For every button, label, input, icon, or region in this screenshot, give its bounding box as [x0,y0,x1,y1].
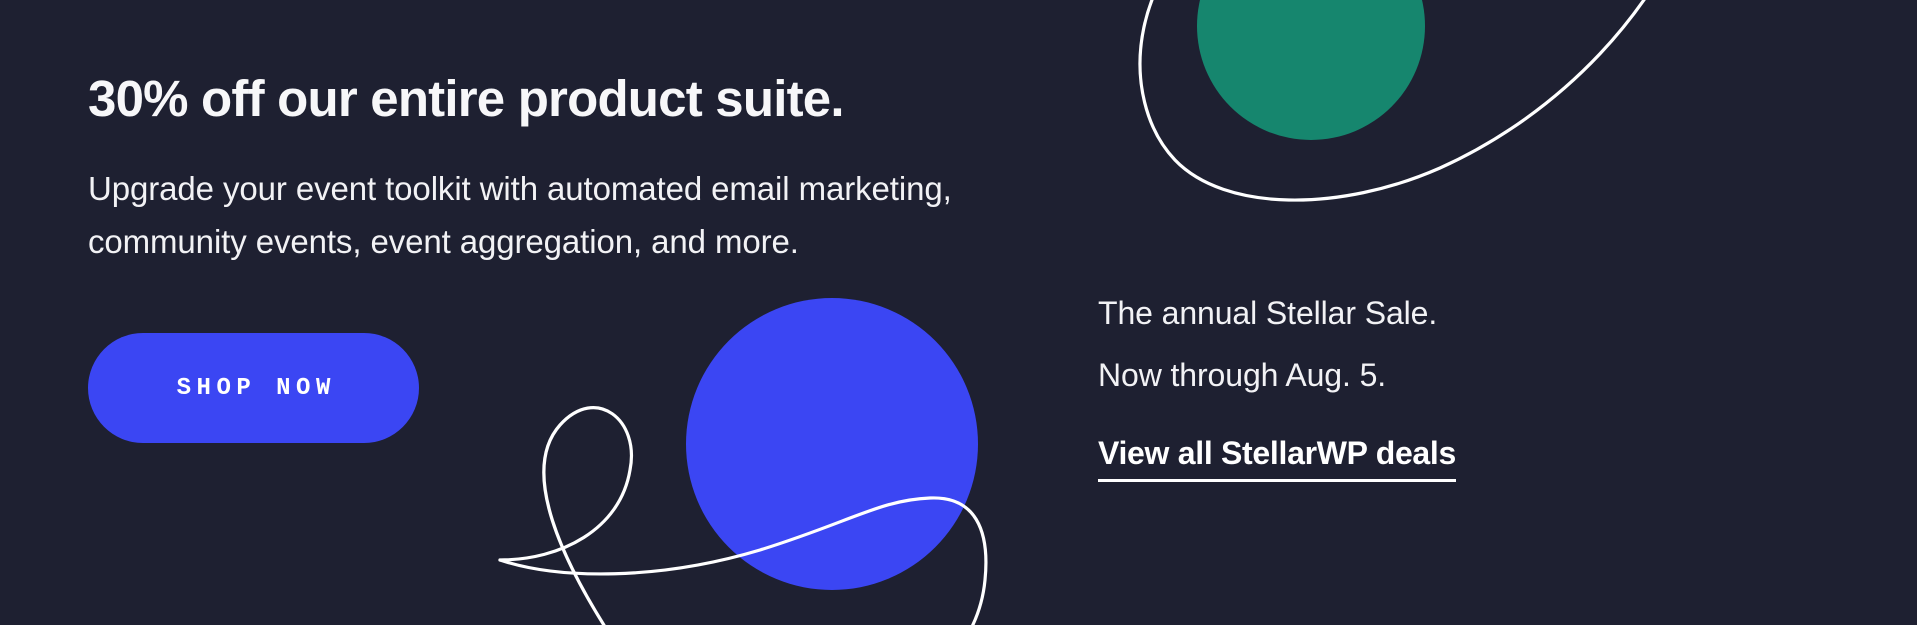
shop-now-button[interactable]: SHOP NOW [88,333,419,443]
sale-info-line-2: Now through Aug. 5. [1098,344,1858,406]
sale-info-line-1: The annual Stellar Sale. [1098,282,1858,344]
subheadline-line-2: community events, event aggregation, and… [88,215,952,268]
view-all-deals-link[interactable]: View all StellarWP deals [1098,435,1456,482]
sale-info-block: The annual Stellar Sale. Now through Aug… [1098,282,1858,482]
promo-headline: 30% off our entire product suite. [88,70,844,129]
promo-subheadline: Upgrade your event toolkit with automate… [88,162,952,269]
promo-banner: 30% off our entire product suite. Upgrad… [0,0,1917,625]
banner-content: 30% off our entire product suite. Upgrad… [0,0,1917,625]
subheadline-line-1: Upgrade your event toolkit with automate… [88,162,952,215]
